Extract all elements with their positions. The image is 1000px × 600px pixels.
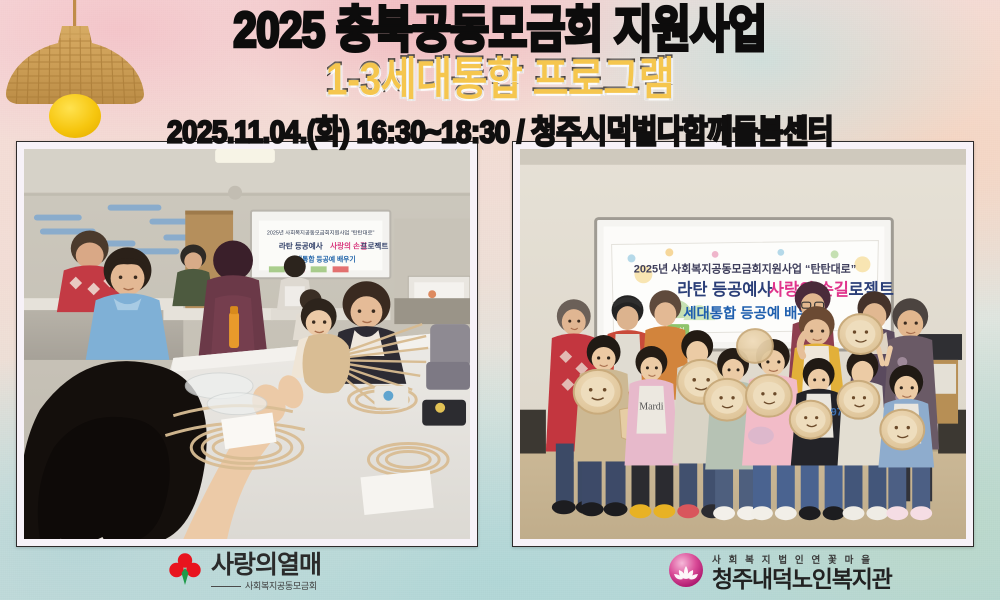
logo-center-corporation: 사 회 복 지 법 인 연 꽃 마 을	[712, 555, 892, 566]
svg-text:라탄 등공예사: 라탄 등공예사	[677, 281, 772, 299]
photo-right-image: 2025년 사회복지공동모금회지원사업 “탄탄대로” 라탄 등공예사 사랑의 손…	[520, 149, 966, 539]
lotus-flower-icon	[668, 552, 704, 593]
poster-canvas: 2025 충북공동모금회 지원사업 1-3세대통합 프로그램 2025.11.0…	[0, 0, 1000, 600]
svg-text:2025년 사회복지공동모금회지원사업 "탄탄대로": 2025년 사회복지공동모금회지원사업 "탄탄대로"	[267, 228, 375, 236]
photo-left-frame: 2025년 사회복지공동모금회지원사업 "탄탄대로" 라탄 등공예사 사랑의 손…	[16, 141, 478, 547]
logo-community-chest-org: 사회복지공동모금회	[211, 581, 321, 591]
logo-center-name: 청주내덕노인복지관	[712, 567, 892, 591]
logo-senior-welfare-center: 사 회 복 지 법 인 연 꽃 마 을 청주내덕노인복지관	[668, 552, 892, 593]
photo-left-image: 2025년 사회복지공동모금회지원사업 "탄탄대로" 라탄 등공예사 사랑의 손…	[24, 149, 470, 539]
logo-community-chest: 사랑의열매 사회복지공동모금회	[168, 552, 321, 591]
footer-logos: 사랑의열매 사회복지공동모금회	[0, 548, 1000, 600]
svg-text:라탄 등공예사: 라탄 등공예사	[279, 240, 323, 250]
page-title: 2025 충북공동모금회 지원사업	[0, 3, 1000, 57]
svg-text:프로젝트: 프로젝트	[361, 240, 389, 250]
photo-right-frame: 2025년 사회복지공동모금회지원사업 “탄탄대로” 라탄 등공예사 사랑의 손…	[512, 141, 974, 547]
svg-text:2025년 사회복지공동모금회지원사업 “탄탄대로”: 2025년 사회복지공동모금회지원사업 “탄탄대로”	[634, 261, 856, 275]
fruit-of-love-berries-icon	[168, 552, 202, 591]
poster-header: 2025 충북공동모금회 지원사업 1-3세대통합 프로그램 2025.11.0…	[0, 0, 1000, 140]
schedule-venue-line: 2025.11.04.(화) 16:30~18:30 / 청주시덕벌다함께돌봄센…	[0, 114, 1000, 150]
svg-text:Mardi: Mardi	[639, 402, 664, 413]
program-subtitle: 1-3세대통합 프로그램	[0, 56, 1000, 105]
logo-community-chest-name: 사랑의열매	[211, 553, 321, 578]
svg-text:세대통합 등공예 배우: 세대통합 등공예 배우	[683, 305, 810, 322]
